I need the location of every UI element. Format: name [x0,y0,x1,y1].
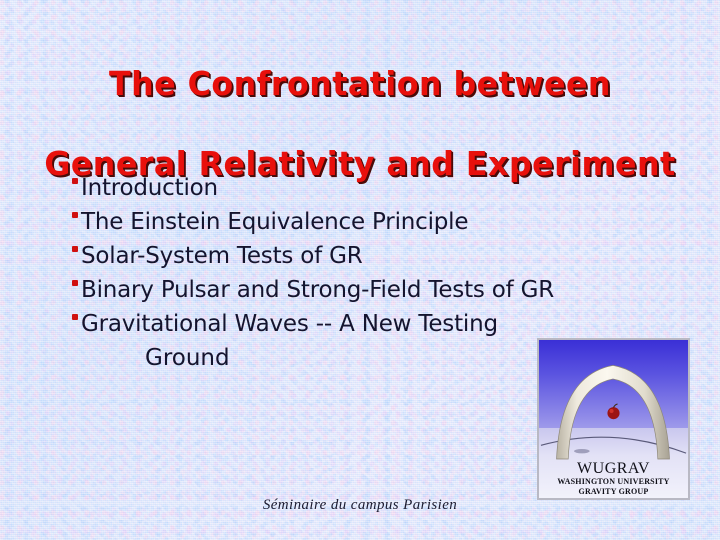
logo-acronym: WUGRAV [539,460,688,477]
apple-icon [607,404,619,419]
bullet-label: The Einstein Equivalence Principle [81,208,468,236]
logo-ground-shadow [574,449,590,453]
list-item: Solar-System Tests of GR [72,242,672,276]
bullet-dot-icon [72,314,78,320]
bullet-label: Solar-System Tests of GR [81,242,363,270]
bullet-label: Binary Pulsar and Strong-Field Tests of … [81,276,554,304]
bullet-dot-icon [72,178,78,184]
slide-canvas: The Confrontation between General Relati… [0,0,720,540]
logo-line-2: WASHINGTON UNIVERSITY [539,477,688,487]
slide-footer: Séminaire du campus Parisien [0,497,720,514]
bullet-dot-icon [72,280,78,286]
list-item: Introduction [72,174,672,208]
bullet-dot-icon [72,246,78,252]
wugrav-logo: WUGRAV WASHINGTON UNIVERSITY GRAVITY GRO… [537,338,690,500]
title-line-1: The Confrontation between [14,64,705,104]
bullet-label: Introduction [81,174,218,202]
list-item: The Einstein Equivalence Principle [72,208,672,242]
logo-line-3: GRAVITY GROUP [539,487,688,497]
bullet-dot-icon [72,212,78,218]
bullet-label: Gravitational Waves -- A New Testing [81,310,498,338]
logo-caption: WUGRAV WASHINGTON UNIVERSITY GRAVITY GRO… [539,460,688,496]
list-item: Binary Pulsar and Strong-Field Tests of … [72,276,672,310]
